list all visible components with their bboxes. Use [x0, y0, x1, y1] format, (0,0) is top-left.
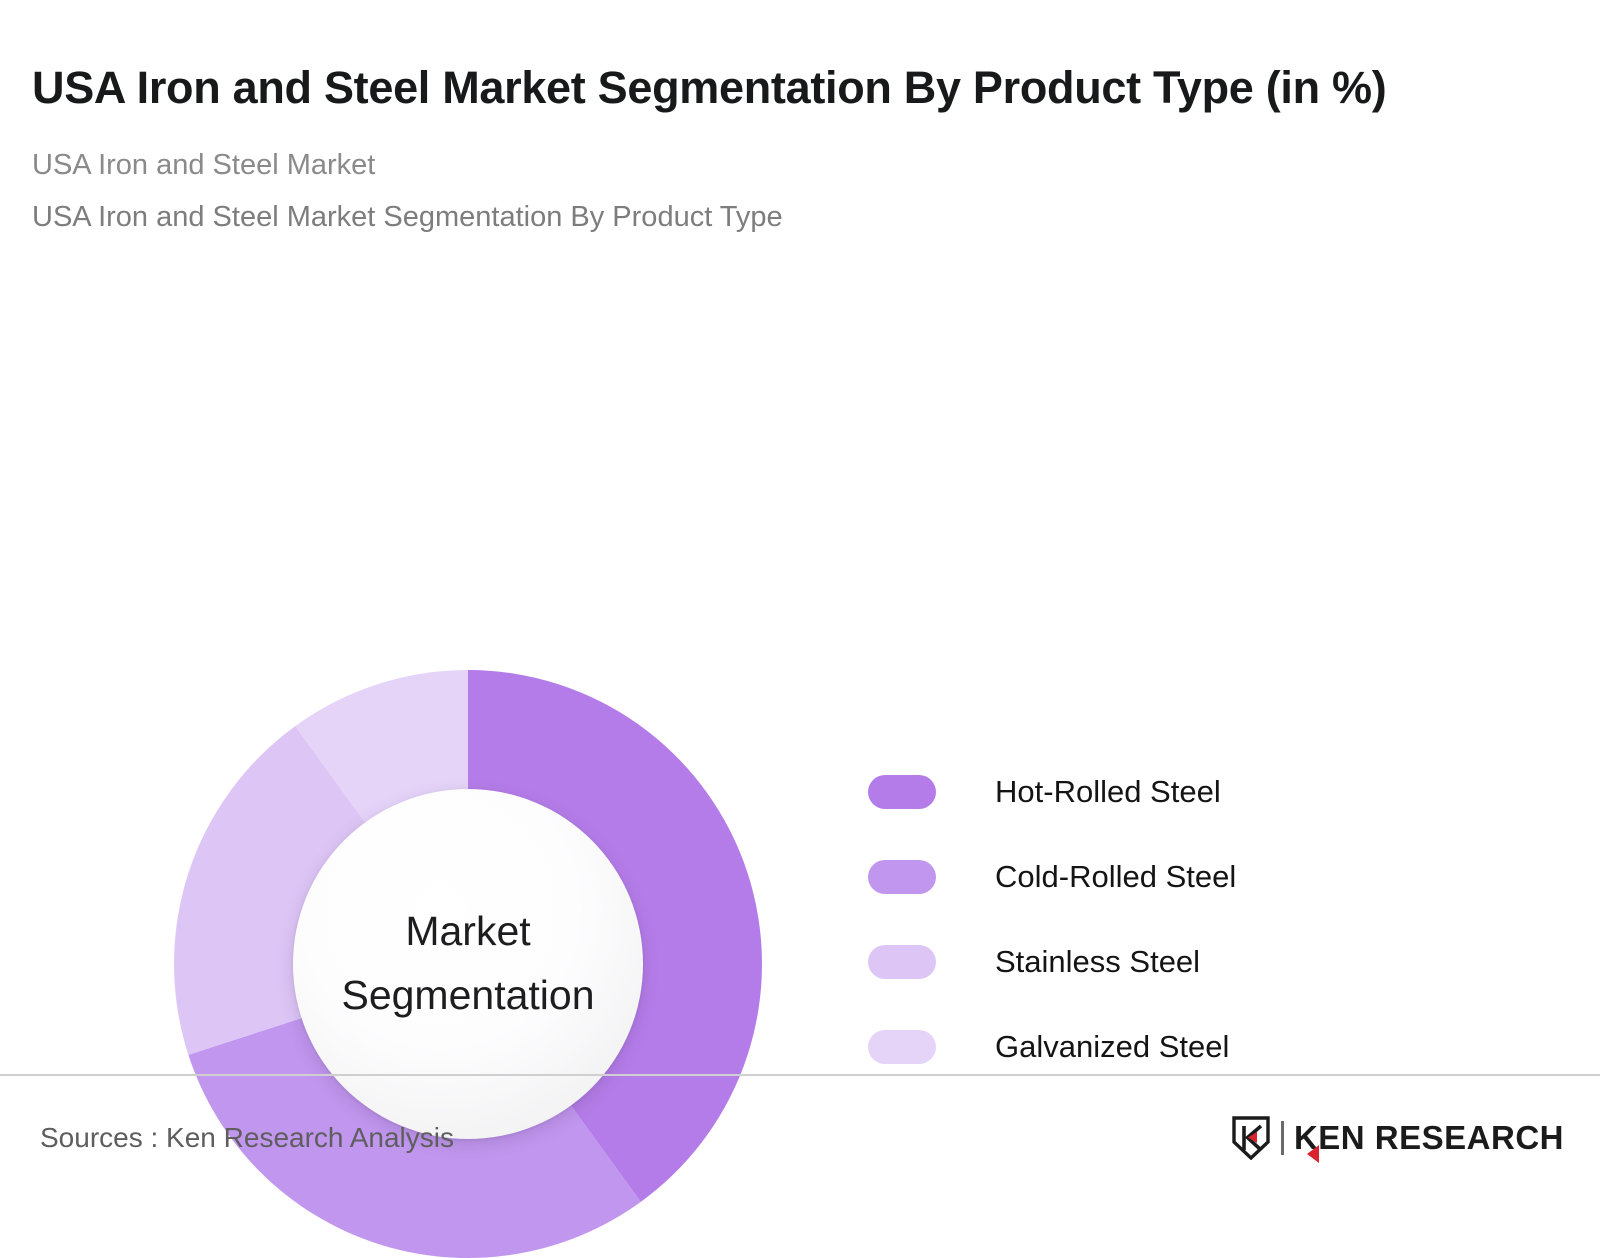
sources-text: Sources : Ken Research Analysis	[40, 1122, 454, 1154]
chart-header: USA Iron and Steel Market Segmentation B…	[0, 0, 1600, 238]
chart-legend: Hot-Rolled SteelCold-Rolled SteelStainle…	[868, 750, 1236, 1090]
legend-item[interactable]: Cold-Rolled Steel	[868, 835, 1236, 920]
chart-footer: Sources : Ken Research Analysis KEN RESE…	[0, 1074, 1600, 1200]
donut-center-line-1: Market	[405, 900, 530, 964]
brand-name-label: KEN RESEARCH	[1294, 1119, 1564, 1157]
legend-swatch	[868, 775, 936, 809]
brand-text: KEN RESEARCH	[1294, 1119, 1564, 1157]
legend-label: Galvanized Steel	[995, 1029, 1229, 1065]
legend-item[interactable]: Hot-Rolled Steel	[868, 750, 1236, 835]
legend-label: Cold-Rolled Steel	[995, 859, 1236, 895]
logo-divider	[1281, 1121, 1284, 1155]
legend-item[interactable]: Stainless Steel	[868, 920, 1236, 1005]
shield-k-icon	[1231, 1116, 1271, 1160]
ken-research-logo: KEN RESEARCH	[1231, 1116, 1564, 1160]
chart-body: Market Segmentation Hot-Rolled SteelCold…	[0, 238, 1600, 1200]
donut-center-line-2: Segmentation	[341, 964, 594, 1028]
legend-swatch	[868, 860, 936, 894]
legend-label: Stainless Steel	[995, 944, 1200, 980]
legend-swatch	[868, 945, 936, 979]
chart-page: USA Iron and Steel Market Segmentation B…	[0, 0, 1600, 1200]
legend-label: Hot-Rolled Steel	[995, 774, 1221, 810]
legend-swatch	[868, 1030, 936, 1064]
page-title: USA Iron and Steel Market Segmentation B…	[32, 58, 1532, 119]
chart-subtitle-primary: USA Iron and Steel Market	[32, 145, 1540, 186]
chart-subtitle-secondary: USA Iron and Steel Market Segmentation B…	[32, 197, 1540, 238]
